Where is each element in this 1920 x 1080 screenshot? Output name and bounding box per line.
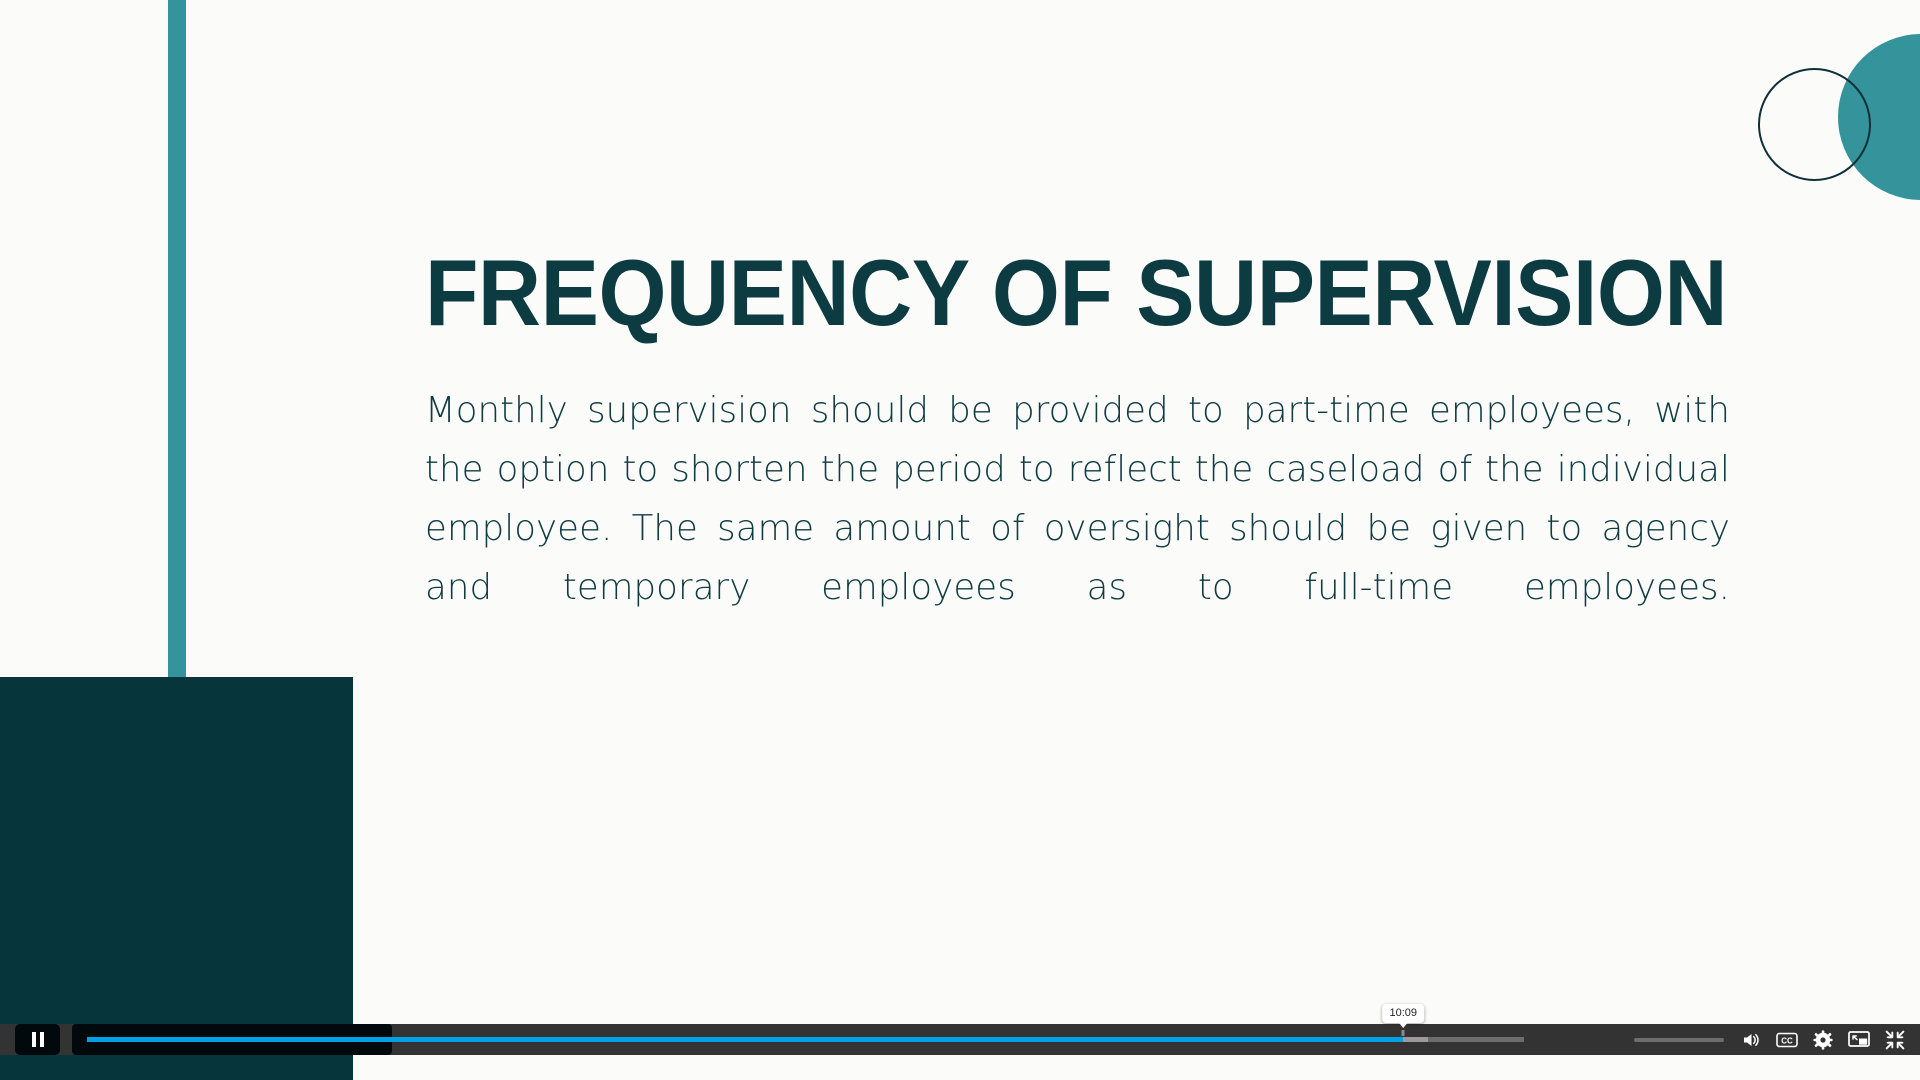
exit-fullscreen-icon[interactable] bbox=[1884, 1029, 1906, 1051]
progress-scrubber[interactable]: 10:09 bbox=[87, 1037, 1524, 1042]
captions-icon[interactable]: CC bbox=[1776, 1029, 1798, 1051]
slide-content: FREQUENCY OF SUPERVISION Monthly supervi… bbox=[425, 248, 1730, 677]
decorative-outline-circle bbox=[1758, 68, 1871, 181]
decorative-dark-rectangle bbox=[0, 677, 353, 1080]
control-bar-left-group bbox=[0, 1024, 60, 1055]
play-pause-button[interactable] bbox=[15, 1024, 60, 1055]
slide-title: FREQUENCY OF SUPERVISION bbox=[425, 248, 1639, 338]
hover-tick-marker bbox=[1402, 1030, 1405, 1036]
volume-slider[interactable] bbox=[1634, 1038, 1724, 1042]
svg-text:CC: CC bbox=[1781, 1036, 1793, 1045]
slide-bottom-strip-dark bbox=[0, 1055, 353, 1080]
settings-icon[interactable] bbox=[1812, 1029, 1834, 1051]
progress-played bbox=[87, 1037, 1403, 1042]
video-control-bar[interactable]: 10:09 CC bbox=[0, 1024, 1920, 1055]
volume-icon[interactable] bbox=[1740, 1029, 1762, 1051]
slide-stage: FREQUENCY OF SUPERVISION Monthly supervi… bbox=[0, 0, 1920, 1080]
control-bar-right-group: CC bbox=[1634, 1024, 1920, 1055]
slide-body-paragraph: Monthly supervision should be provided t… bbox=[425, 382, 1730, 677]
progress-area[interactable]: 10:09 bbox=[72, 1024, 1634, 1055]
picture-in-picture-icon[interactable] bbox=[1848, 1029, 1870, 1051]
pause-icon bbox=[32, 1032, 44, 1047]
hover-time-tooltip: 10:09 bbox=[1383, 1004, 1425, 1023]
